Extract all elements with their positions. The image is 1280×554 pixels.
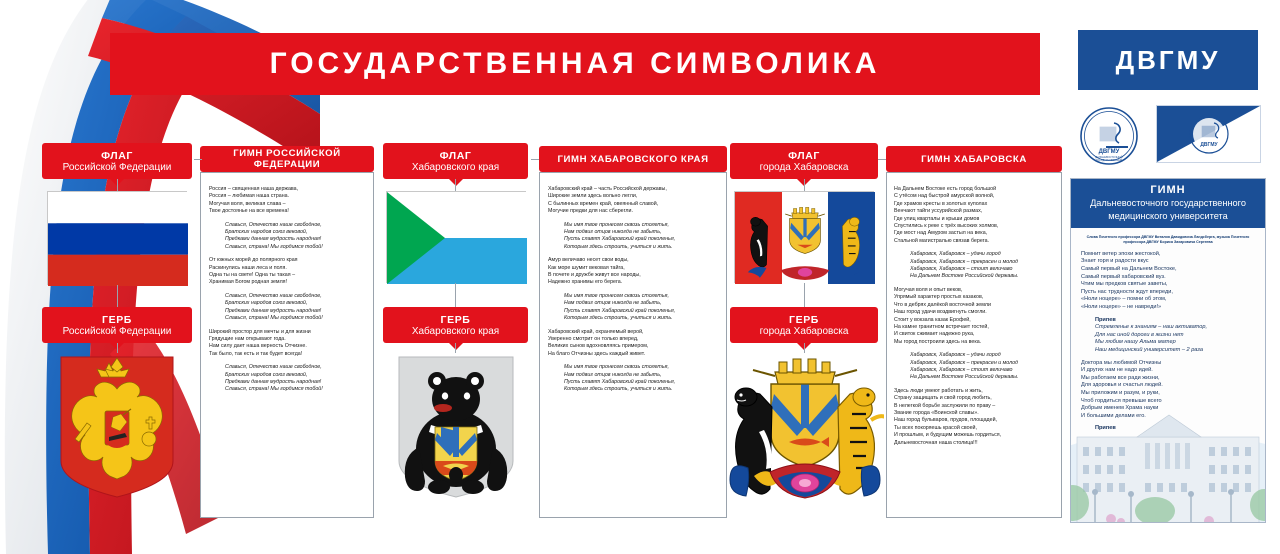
anthem-lyrics-russia: Россия – священная наша держава,Россия –…: [209, 186, 367, 400]
university-hymn-subtitle-2: медицинского университета: [1075, 210, 1261, 222]
page-title: ГОСУДАРСТВЕННАЯ СИМВОЛИКА: [270, 47, 881, 81]
caption-anthem-russia: ГИМН РОССИЙСКОЙ ФЕДЕРАЦИИ: [200, 146, 374, 172]
university-hymn-header: ГИМН Дальневосточного государственного м…: [1071, 179, 1265, 228]
caption-line-2: города Хабаровска: [760, 326, 849, 337]
connector-line: [455, 179, 456, 191]
anthem-verse: От южных морей до полярного краяРаскинул…: [209, 257, 367, 287]
caption-line-2: Хабаровского края: [412, 162, 499, 173]
connector-line: [804, 283, 805, 307]
coat-of-arms-of-khabarovsk-krai: [395, 353, 517, 501]
svg-text:ДВГМУ: ДВГМУ: [1099, 149, 1120, 155]
anthem-refrain: Мы имя твое пронесем сквозь столетья,Нам…: [548, 364, 720, 394]
hymn-refrain-label: ПрипевСтремленье к знаниям – наш активат…: [1081, 317, 1255, 355]
dvgmu-flag-logo: ДВГМУ: [1156, 105, 1261, 163]
connector-line: [194, 159, 202, 160]
anthem-refrain: Славься, Отечество наше свободное,Братск…: [209, 293, 367, 323]
svg-text:ГОСУДАРСТВЕННЫЙ: ГОСУДАРСТВЕННЫЙ: [1096, 158, 1123, 162]
page-title-banner: ГОСУДАРСТВЕННАЯ СИМВОЛИКА: [110, 33, 1040, 95]
caption-emblem-krai: ГЕРБ Хабаровского края: [383, 307, 528, 343]
anthem-verse: Могучая воля и опыт веков,Упрямый характ…: [894, 287, 1056, 346]
dvgmu-seal-logo: ДВГМУ ДАЛЬНЕВОСТОЧНЫЙ ГОСУДАРСТВЕННЫЙ: [1070, 105, 1148, 167]
anthem-lyrics-krai: Хабаровский край – часть Российской держ…: [548, 186, 720, 400]
caption-line-1: ФЛАГ: [440, 150, 472, 162]
university-hymn-credit: Слова Почетного профессора ДВГМУ Виталия…: [1071, 228, 1265, 251]
connector-line: [531, 159, 539, 160]
caption-flag-city: ФЛАГ города Хабаровска: [730, 143, 878, 179]
connector-line: [804, 179, 805, 191]
caption-flag-krai: ФЛАГ Хабаровского края: [383, 143, 528, 179]
brand-label: ДВГМУ: [1116, 45, 1221, 76]
brand-badge: ДВГМУ: [1078, 30, 1258, 90]
connector-line: [455, 343, 456, 353]
anthem-lyrics-city: На Дальнем Востоке есть город большойС у…: [894, 186, 1056, 453]
caption-line-1: ГИМН ХАБАРОВСКОГО КРАЯ: [557, 154, 708, 165]
caption-line-2: Хабаровского края: [412, 326, 499, 337]
hymn-refrain-label: Припев: [1081, 425, 1255, 433]
university-hymn-title: ГИМН: [1075, 184, 1261, 196]
caption-line-1: ГЕРБ: [789, 314, 819, 326]
anthem-verse: Широкий простор для мечты и для жизниГря…: [209, 329, 367, 359]
svg-text:ДВГМУ: ДВГМУ: [1200, 142, 1218, 148]
caption-line-1: ГЕРБ: [441, 314, 471, 326]
connector-line: [117, 179, 118, 191]
logo-row: ДВГМУ ДАЛЬНЕВОСТОЧНЫЙ ГОСУДАРСТВЕННЫЙ ДВ…: [1070, 105, 1265, 167]
hymn-verse: Доктора мы любимой ОтчизныИ других нам н…: [1081, 360, 1255, 421]
coat-of-arms-of-russia: [57, 353, 177, 501]
coat-of-arms-of-khabarovsk-city: [726, 350, 884, 506]
caption-emblem-russia: ГЕРБ Российской Федерации: [42, 307, 192, 343]
caption-line-2: Российской Федерации: [63, 326, 172, 337]
anthem-refrain: Славься, Отечество наше свободное,Братск…: [209, 364, 367, 394]
caption-flag-russia: ФЛАГ Российской Федерации: [42, 143, 192, 179]
university-hymn-subtitle-1: Дальневосточного государственного: [1075, 197, 1261, 209]
caption-line-1: ГИМН РОССИЙСКОЙ ФЕДЕРАЦИИ: [200, 148, 374, 170]
anthem-verse: Здесь люди умеют работать и жить,Страну …: [894, 388, 1056, 447]
caption-anthem-krai: ГИМН ХАБАРОВСКОГО КРАЯ: [539, 146, 727, 172]
anthem-refrain: Мы имя твое пронесем сквозь столетья,Нам…: [548, 293, 720, 323]
university-hymn-panel: ГИМН Дальневосточного государственного м…: [1070, 178, 1266, 523]
anthem-verse: На Дальнем Востоке есть город большойС у…: [894, 186, 1056, 245]
caption-line-1: ФЛАГ: [101, 150, 133, 162]
caption-line-2: Российской Федерации: [63, 162, 172, 173]
caption-line-1: ГЕРБ: [102, 314, 132, 326]
caption-line-2: города Хабаровска: [760, 162, 849, 173]
flag-of-khabarovsk-krai: [386, 191, 526, 283]
caption-anthem-city: ГИМН ХАБАРОВСКА: [886, 146, 1062, 172]
anthem-verse: Хабаровский край – часть Российской держ…: [548, 186, 720, 216]
caption-emblem-city: ГЕРБ города Хабаровска: [730, 307, 878, 343]
flag-of-russia: [47, 191, 187, 285]
connector-line: [117, 343, 118, 353]
anthem-refrain: Мы имя твое пронесем сквозь столетья,Нам…: [548, 222, 720, 252]
anthem-verse: Хабаровский край, охраняемый верой,Увере…: [548, 329, 720, 359]
flag-of-khabarovsk-city: [734, 191, 874, 283]
hymn-verse: Помнит ветер эпохи жестокой,Знает горя и…: [1081, 251, 1255, 312]
connector-line: [117, 285, 118, 307]
university-hymn-lyrics: Помнит ветер эпохи жестокой,Знает горя и…: [1071, 251, 1265, 433]
caption-line-1: ГИМН ХАБАРОВСКА: [921, 154, 1027, 165]
anthem-verse: Амур величаво несет свои воды,Как море ш…: [548, 257, 720, 287]
anthem-refrain: Славься, Отечество наше свободное,Братск…: [209, 222, 367, 252]
anthem-verse: Россия – священная наша держава,Россия –…: [209, 186, 367, 216]
connector-line: [455, 283, 456, 307]
anthem-refrain: Хабаровск, Хабаровск – удачи городХабаро…: [894, 251, 1056, 281]
anthem-refrain: Хабаровск, Хабаровск – удачи городХабаро…: [894, 352, 1056, 382]
connector-line: [878, 159, 886, 160]
caption-line-1: ФЛАГ: [788, 150, 820, 162]
